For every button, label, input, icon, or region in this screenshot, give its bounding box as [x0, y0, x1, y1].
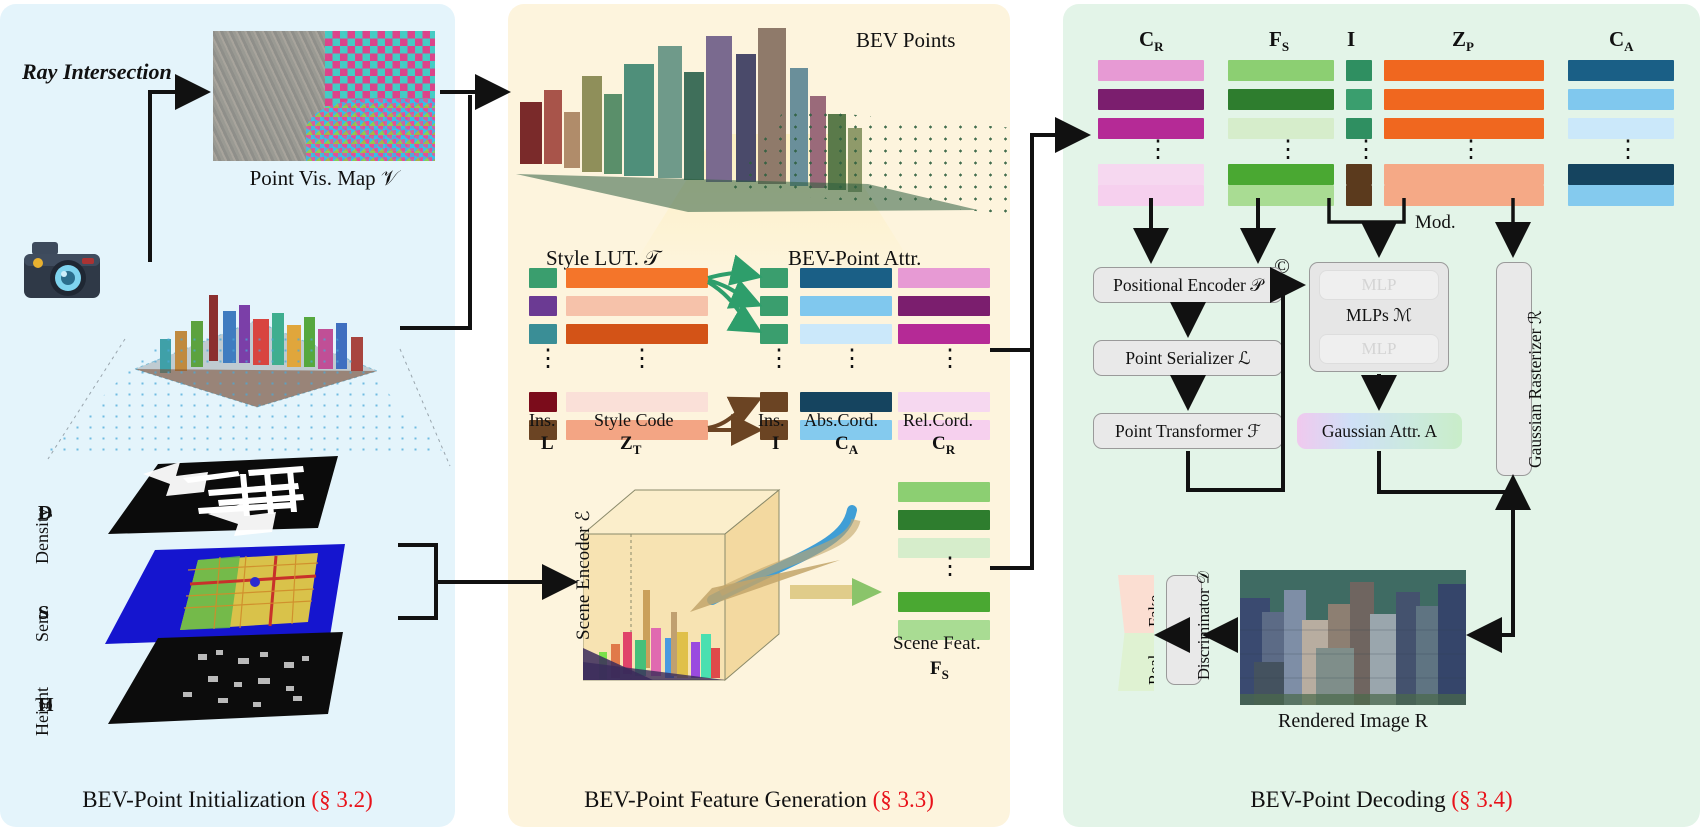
decoder-column-header-FS: FS — [1269, 27, 1289, 55]
sym-main: C — [1139, 27, 1154, 51]
sym-sub: A — [1624, 39, 1633, 54]
discriminator-box[interactable]: Discriminator 𝒟 — [1166, 575, 1202, 685]
sym-main: C — [1609, 27, 1624, 51]
decoder-bar-C — [1098, 185, 1204, 206]
decoder-bar-F — [1228, 185, 1334, 206]
sym-sub: R — [1154, 39, 1163, 54]
decoder-bar-I — [1346, 118, 1372, 139]
decoder-bar-C — [1098, 60, 1204, 81]
rendered-image — [1240, 570, 1466, 705]
decoder-bar-F — [1228, 60, 1334, 81]
mlp-inner-bottom: MLP — [1319, 334, 1439, 364]
sym-main: F — [1269, 27, 1282, 51]
decoder-bar-C — [1568, 164, 1674, 185]
gaussian-rasterizer-label: Gaussian Rasterizer ℛ — [1525, 310, 1546, 468]
decoder-ellipsis-Z: ⋮ — [1459, 143, 1483, 157]
decoder-bar-C — [1568, 60, 1674, 81]
decoder-bar-I — [1346, 60, 1372, 81]
mlp-inner-top: MLP — [1319, 270, 1439, 300]
point-transformer-box[interactable]: Point Transformer ℱ — [1093, 413, 1283, 449]
decoder-ellipsis-C: ⋮ — [1146, 143, 1170, 157]
decoder-bar-F — [1228, 118, 1334, 139]
mlps-label: MLPs ℳ — [1310, 305, 1448, 326]
point-serializer-box[interactable]: Point Serializer ℒ — [1093, 340, 1283, 376]
sym-main: Z — [1452, 27, 1466, 51]
decoder-bar-C — [1568, 185, 1674, 206]
decoder-column-header-I: I — [1347, 27, 1355, 52]
discriminator-label: Discriminator 𝒟 — [1194, 571, 1214, 680]
decoder-bar-C — [1098, 164, 1204, 185]
decoder-ellipsis-C: ⋮ — [1616, 143, 1640, 157]
decoder-bar-C — [1098, 118, 1204, 139]
decoder-bar-Z — [1384, 89, 1544, 110]
decoder-bar-Z — [1384, 60, 1544, 81]
decoder-bar-F — [1228, 164, 1334, 185]
decoder-bar-Z — [1384, 118, 1544, 139]
decoder-column-header-ZP: ZP — [1452, 27, 1474, 55]
rendered-image-label: Rendered Image R — [1240, 710, 1466, 733]
gaussian-rasterizer-box[interactable]: Gaussian Rasterizer ℛ — [1496, 262, 1532, 476]
sym-sub: P — [1466, 39, 1474, 54]
positional-encoder-box[interactable]: Positional Encoder 𝒫 — [1093, 267, 1283, 303]
decoder-bar-I — [1346, 185, 1372, 206]
decoder-bar-C — [1568, 89, 1674, 110]
decoder-bar-I — [1346, 89, 1372, 110]
gaussian-attr-box[interactable]: Gaussian Attr. A — [1297, 413, 1462, 449]
decoder-bar-Z — [1384, 185, 1544, 206]
decoder-ellipsis-I: ⋮ — [1354, 143, 1378, 157]
decoder-bar-C — [1568, 118, 1674, 139]
decoder-bar-I — [1346, 164, 1372, 185]
mod-label: Mod. — [1415, 212, 1456, 234]
decoder-bar-Z — [1384, 164, 1544, 185]
decoder-ellipsis-F: ⋮ — [1276, 143, 1300, 157]
decoder-column-header-CA: CA — [1609, 27, 1634, 55]
decoder-column-header-CR: CR — [1139, 27, 1164, 55]
decoder-bar-F — [1228, 89, 1334, 110]
sym-sub: S — [1282, 39, 1289, 54]
sym-main: I — [1347, 27, 1355, 51]
decoder-bar-C — [1098, 89, 1204, 110]
